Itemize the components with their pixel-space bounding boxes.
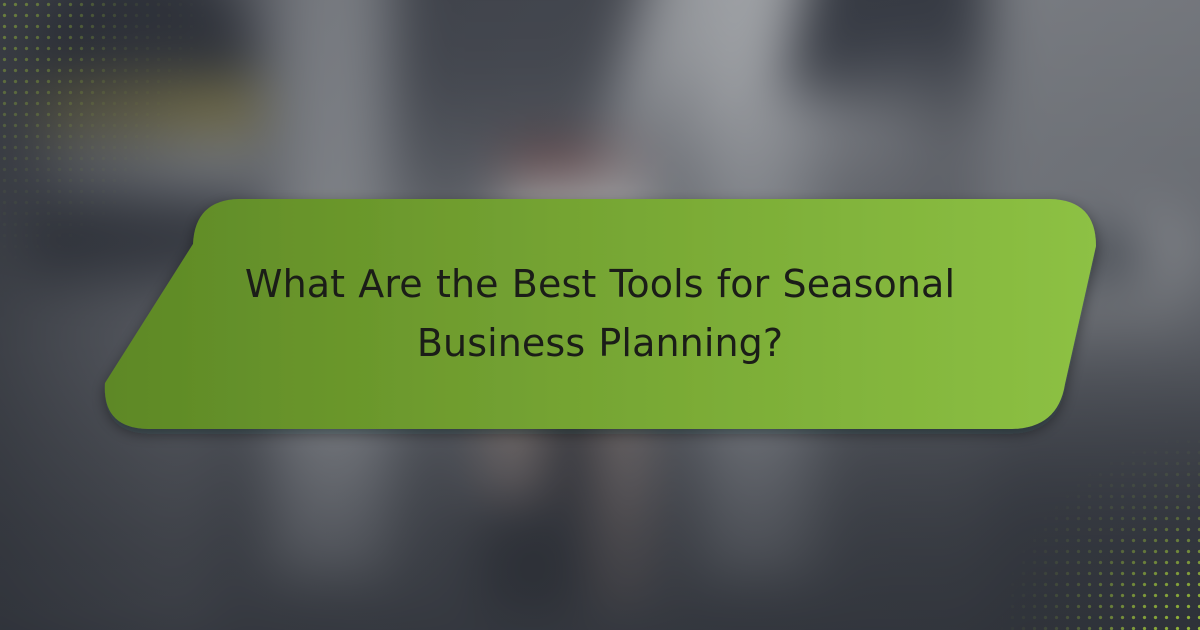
social-card-canvas: What Are the Best Tools for Seasonal Bus…: [0, 0, 1200, 630]
page-title: What Are the Best Tools for Seasonal Bus…: [182, 255, 1018, 373]
title-text-container: What Are the Best Tools for Seasonal Bus…: [176, 198, 1024, 430]
